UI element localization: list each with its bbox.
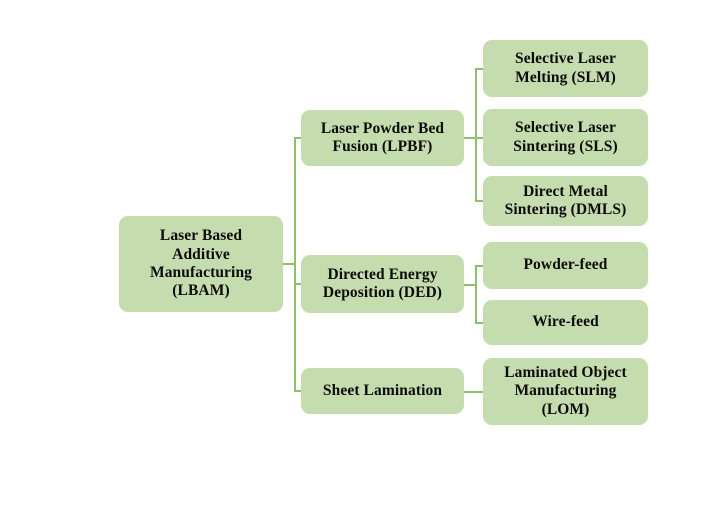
node-laminated-object-manufacturing[interactable]: Laminated Object Manufacturing (LOM) (483, 358, 648, 425)
node-label: Laminated Object Manufacturing (LOM) (504, 364, 627, 419)
node-selective-laser-melting[interactable]: Selective Laser Melting (SLM) (483, 40, 648, 97)
node-direct-metal-sintering[interactable]: Direct Metal Sintering (DMLS) (483, 176, 648, 226)
node-label: Powder-feed (523, 256, 607, 274)
node-powder-feed[interactable]: Powder-feed (483, 242, 648, 289)
node-label: Laser Based Additive Manufacturing (LBAM… (150, 227, 252, 300)
node-label: Selective Laser Sintering (SLS) (513, 119, 617, 156)
connector-sheet-to-lom (464, 391, 484, 393)
node-laser-based-additive-manufacturing[interactable]: Laser Based Additive Manufacturing (LBAM… (119, 216, 283, 312)
node-label: Directed Energy Deposition (DED) (323, 266, 442, 303)
node-label: Sheet Lamination (323, 382, 442, 400)
node-sheet-lamination[interactable]: Sheet Lamination (301, 368, 464, 414)
node-label: Laser Powder Bed Fusion (LPBF) (321, 120, 444, 157)
node-wire-feed[interactable]: Wire-feed (483, 300, 648, 345)
node-directed-energy-deposition[interactable]: Directed Energy Deposition (DED) (301, 255, 464, 313)
node-selective-laser-sintering[interactable]: Selective Laser Sintering (SLS) (483, 109, 648, 166)
node-label: Wire-feed (532, 313, 599, 331)
connector-ded-trunk (475, 265, 477, 323)
connector-lpbf-trunk (475, 68, 477, 201)
node-label: Direct Metal Sintering (DMLS) (505, 183, 627, 220)
node-laser-powder-bed-fusion[interactable]: Laser Powder Bed Fusion (LPBF) (301, 110, 464, 166)
connector-root-trunk (294, 137, 296, 391)
lbam-taxonomy-diagram: Laser Based Additive Manufacturing (LBAM… (0, 0, 726, 528)
node-label: Selective Laser Melting (SLM) (515, 50, 616, 87)
